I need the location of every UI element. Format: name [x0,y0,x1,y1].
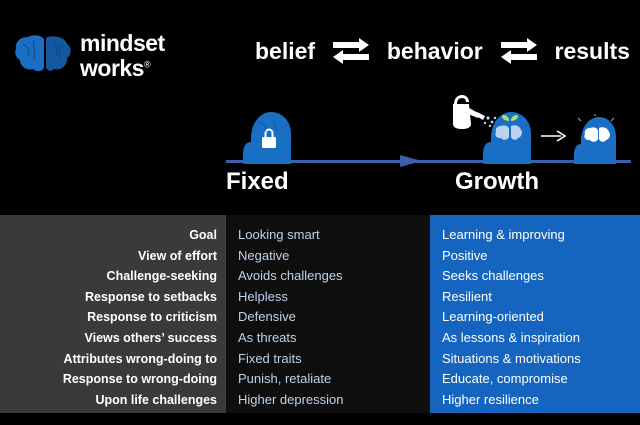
brand-name-line1: mindset [80,32,200,55]
table-column-growth-mindset: Learning & improving Positive Seeks chal… [430,215,640,413]
belief-behavior-results-equation: belief behavior results [255,30,630,72]
head-with-lock-icon [241,108,293,164]
table-row: Situations & motivations [442,349,640,370]
table-row: Attributes wrong-doing to [0,349,217,370]
equation-term-belief: belief [255,38,315,65]
equation-term-behavior: behavior [387,38,483,65]
table-column-attributes: Goal View of effort Challenge-seeking Re… [0,215,226,413]
brain-icon [14,31,72,77]
small-right-arrow-icon [541,130,571,144]
double-arrow-icon-2 [499,38,539,64]
table-row: Response to wrong-doing [0,369,217,390]
mindset-infographic: mindset works® belief behavior results [0,0,640,425]
head-with-brain-icon [481,108,533,164]
table-row: Learning-oriented [442,307,640,328]
table-row: Punish, retaliate [238,369,430,390]
table-row: Learning & improving [442,225,640,246]
mindset-comparison-table: Goal View of effort Challenge-seeking Re… [0,215,640,413]
table-row: Higher resilience [442,390,640,411]
label-fixed: Fixed [226,168,289,196]
table-row: As lessons & inspiration [442,328,640,349]
table-row: Resilient [442,287,640,308]
table-row: Educate, compromise [442,369,640,390]
brand-logo: mindset works® [14,28,194,88]
table-row: Seeks challenges [442,266,640,287]
table-row: Negative [238,246,430,267]
table-row: Looking smart [238,225,430,246]
table-row: Helpless [238,287,430,308]
table-row: As threats [238,328,430,349]
table-row: Avoids challenges [238,266,430,287]
table-row: Upon life challenges [0,390,217,411]
brand-name-line2: works® [80,57,200,80]
table-row: Response to criticism [0,307,217,328]
table-row: Challenge-seeking [0,266,217,287]
table-row: Fixed traits [238,349,430,370]
table-row: Defensive [238,307,430,328]
registered-mark: ® [144,59,150,69]
fixed-to-growth-illustration: Fixed Growth [0,90,640,215]
head-with-glowing-brain-icon [573,114,617,164]
brand-wordmark: mindset works® [80,32,200,80]
table-row: Response to setbacks [0,287,217,308]
table-row: Positive [442,246,640,267]
table-column-fixed-mindset: Looking smart Negative Avoids challenges… [226,215,430,413]
label-growth: Growth [455,168,539,196]
equation-term-results: results [555,38,630,65]
table-row: Goal [0,225,217,246]
double-arrow-icon [331,38,371,64]
footer-strip [0,413,640,425]
table-row: View of effort [0,246,217,267]
axis-arrowhead-icon [400,152,430,170]
table-row: Higher depression [238,390,430,411]
table-row: Views others’ success [0,328,217,349]
